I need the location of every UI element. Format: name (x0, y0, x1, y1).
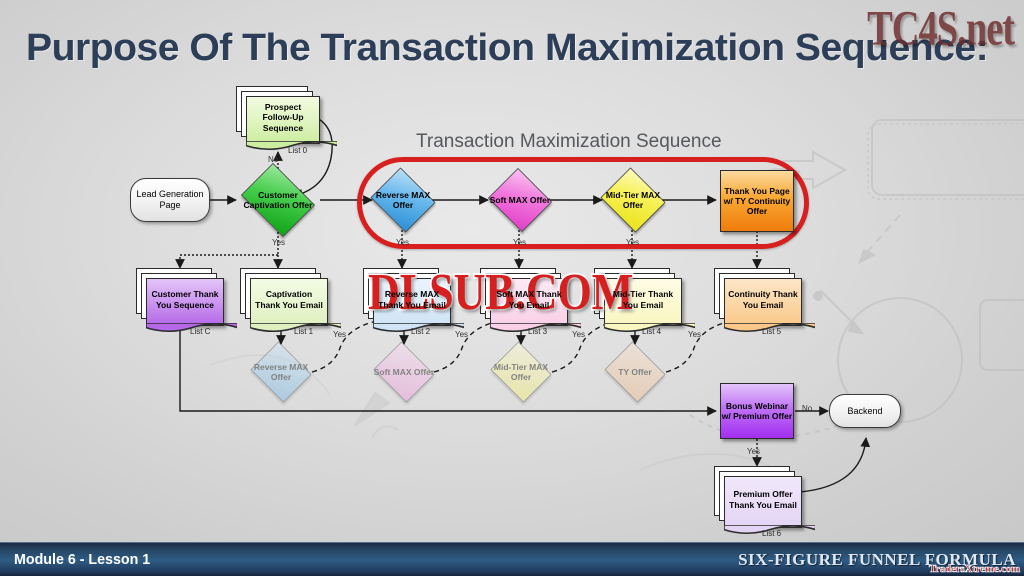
node-lead-generation-page[interactable]: Lead Generation Page (130, 178, 210, 222)
node-mid-tier-max-offer[interactable]: Mid-Tier MAX Offer (598, 170, 668, 230)
node-label: Continuity Thank You Email (724, 278, 802, 326)
node-label: Reverse MAX Offer (248, 362, 314, 382)
edge-label-yes-email-3: Yes (572, 330, 585, 339)
edge-label-yes-email-4: Yes (688, 330, 701, 339)
node-label: Customer Captivation Offer (236, 190, 320, 210)
edge-label-yes-premium: Yes (747, 447, 760, 456)
node-continuity-thank-you-email[interactable]: Continuity Thank You Email (714, 268, 802, 326)
list-tag-6: List 6 (762, 529, 781, 538)
node-label: Lead Generation Page (131, 189, 209, 210)
edge-label-yes-email-2: Yes (455, 330, 468, 339)
node-label: Mid-Tier MAX Offer (598, 190, 668, 210)
node-label: Reverse MAX Offer (368, 190, 438, 210)
node-label: Premium Offer Thank You Email (724, 476, 802, 528)
node-premium-offer-thank-you-email[interactable]: Premium Offer Thank You Email (714, 466, 802, 528)
node-mid-tier-max-offer-echo[interactable]: Mid-Tier MAX Offer (488, 344, 554, 400)
list-tag-1: List 1 (294, 327, 313, 336)
node-backend[interactable]: Backend (829, 394, 901, 428)
list-tag-3: List 3 (528, 327, 547, 336)
node-label: Mid-Tier MAX Offer (488, 362, 554, 382)
node-ty-offer-echo[interactable]: TY Offer (602, 344, 668, 400)
edge-label-no-backend: No (802, 404, 812, 413)
node-thank-you-page-continuity-offer[interactable]: Thank You Page w/ TY Continuity Offer (720, 170, 794, 232)
list-tag-c: List C (190, 327, 210, 336)
edge-label-yes-email-1: Yes (333, 330, 346, 339)
node-soft-max-offer-echo[interactable]: Soft MAX Offer (371, 344, 437, 400)
node-label: Soft MAX Offer (488, 195, 552, 205)
node-prospect-follow-up-sequence[interactable]: Prospect Follow-Up Sequence (236, 86, 320, 144)
edge-label-yes-midtier: Yes (626, 238, 639, 247)
node-label: Prospect Follow-Up Sequence (246, 96, 320, 144)
edge-label-yes-captivation: Yes (272, 238, 285, 247)
node-label: Bonus Webinar w/ Premium Offer (721, 401, 793, 421)
node-label: Thank You Page w/ TY Continuity Offer (721, 186, 793, 216)
node-label: Soft MAX Offer (372, 367, 436, 377)
node-reverse-max-offer-echo[interactable]: Reverse MAX Offer (248, 344, 314, 400)
node-captivation-thank-you-email[interactable]: Captivation Thank You Email (240, 268, 328, 326)
node-bonus-webinar-premium-offer[interactable]: Bonus Webinar w/ Premium Offer (720, 383, 794, 439)
watermark-tradersxtreme: TradersXtreme.com (929, 563, 1020, 575)
node-customer-captivation-offer[interactable]: Customer Captivation Offer (236, 168, 320, 232)
node-label: TY Offer (616, 367, 653, 377)
slide-footer: Module 6 - Lesson 1 SIX-FIGURE FUNNEL FO… (0, 542, 1024, 576)
footer-module-label: Module 6 - Lesson 1 (14, 551, 150, 568)
node-label: Captivation Thank You Email (250, 278, 328, 326)
edge-label-yes-reverse: Yes (396, 238, 409, 247)
edge-label-yes-soft: Yes (513, 238, 526, 247)
list-tag-4: List 4 (642, 327, 661, 336)
node-label: Reverse MAX Thank You Email (373, 278, 451, 326)
flowchart-diagram: Transaction Maximization Sequence Lead G… (0, 0, 1024, 576)
sequence-caption: Transaction Maximization Sequence (416, 131, 722, 153)
node-label: Mid-Tier Thank You Email (604, 278, 682, 326)
node-reverse-max-offer[interactable]: Reverse MAX Offer (368, 170, 438, 230)
list-tag-0: List 0 (288, 146, 307, 155)
list-tag-2: List 2 (411, 327, 430, 336)
node-label: Customer Thank You Sequence (146, 278, 224, 326)
list-tag-5: List 5 (762, 327, 781, 336)
slide-canvas: Purpose Of The Transaction Maximization … (0, 0, 1024, 576)
node-customer-thank-you-sequence[interactable]: Customer Thank You Sequence (136, 268, 224, 326)
node-label: Backend (847, 406, 882, 417)
node-label: Soft MAX Thank You Email (490, 278, 568, 326)
node-soft-max-offer[interactable]: Soft MAX Offer (486, 170, 554, 230)
